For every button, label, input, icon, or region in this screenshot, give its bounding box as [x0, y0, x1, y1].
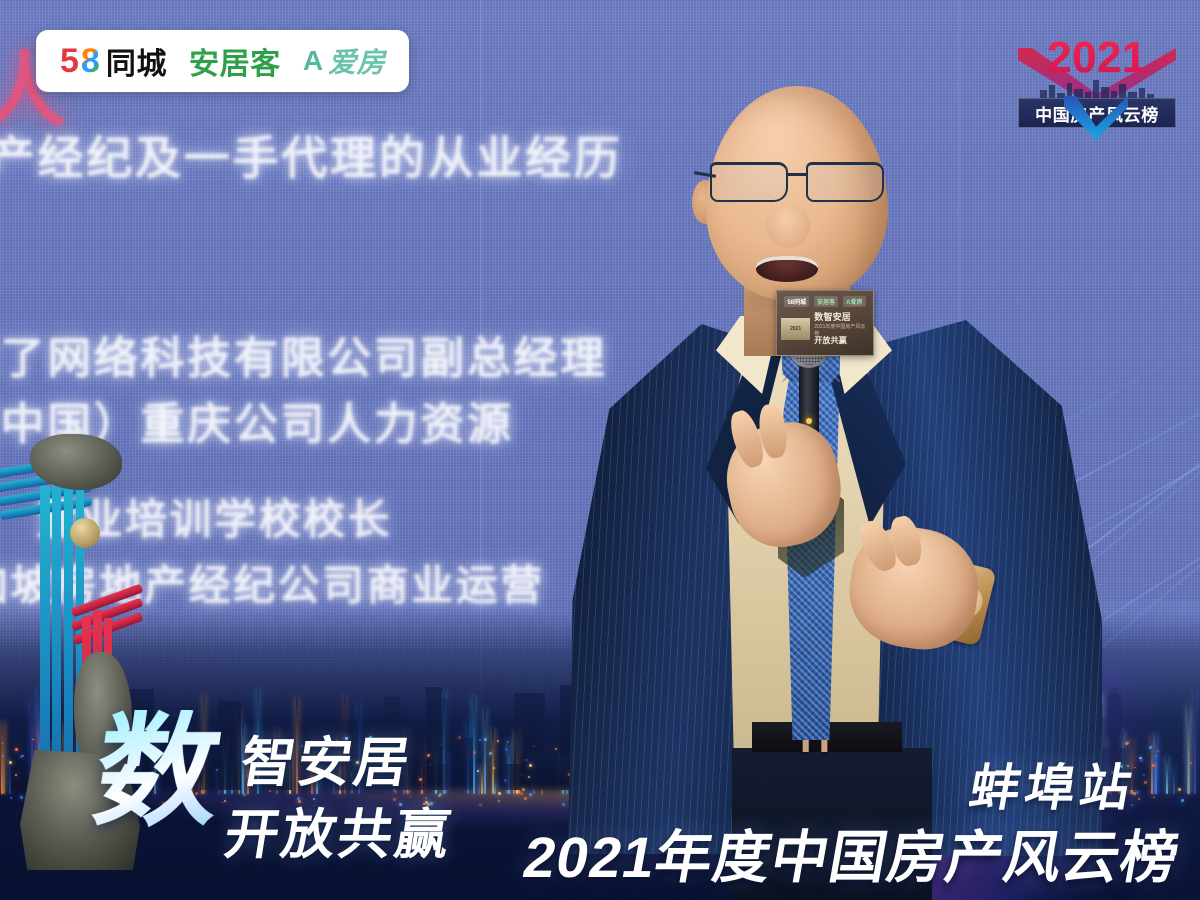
- event-main-title: 2021年度中国房产风云榜: [518, 812, 1187, 894]
- flag-slogan-2: 开放共赢: [814, 337, 869, 346]
- flag-chip-58: 58同城: [784, 296, 809, 307]
- logo-58-digit-8: 8: [81, 44, 100, 78]
- flag-subtitle: 2021年度中国房产风云榜: [814, 323, 869, 337]
- slogan-line-1: 智安居: [236, 718, 419, 797]
- conference-photo: 人 地产经纪及一手代理的从业经历 家了网络科技有限公司副总经理 （中国）重庆公司…: [0, 0, 1200, 900]
- speaker-person: H 58同城 安居客 A爱房: [520, 58, 1140, 848]
- logo-name-text: 中国房产风云榜: [1035, 101, 1159, 126]
- eyeglasses: [710, 162, 888, 206]
- slogan-line-2: 开放共赢: [220, 790, 459, 869]
- logo-58-text: 同城: [106, 39, 167, 83]
- flag-year-badge: 2021: [781, 318, 810, 340]
- gateway-orb: [70, 518, 100, 548]
- logo-58tongcheng: 5 8 同城: [60, 39, 167, 83]
- screen-text-line-2: 家了网络科技有限公司副总经理: [0, 322, 607, 386]
- logo-aifang: A 爱房: [303, 41, 385, 81]
- event-logo: 2021 中国房产风云榜: [1012, 22, 1182, 144]
- logo-anjuke: 安居客: [189, 39, 281, 83]
- logo-year-text: 2021: [1012, 36, 1182, 80]
- flag-slogan: 数智安居: [814, 313, 869, 323]
- flag-chip-anjuke: 安居客: [814, 296, 838, 307]
- microphone-flag-card: 58同城 安居客 A爱房 2021 数智安居 2021年度中国房产风云榜 开放共…: [776, 290, 874, 356]
- event-slogan-block: 数 智安居 开放共赢: [96, 716, 516, 876]
- aifang-a-icon: A: [303, 45, 323, 77]
- station-label: 蚌埠站: [965, 748, 1143, 820]
- logo-58-digit-5: 5: [60, 44, 79, 78]
- nose: [766, 204, 810, 248]
- aifang-label: 爱房: [328, 41, 385, 81]
- mouth: [756, 256, 818, 282]
- flag-chip-aifang: A爱房: [843, 296, 865, 307]
- slogan-big-character: 数: [87, 710, 228, 834]
- sponsor-logo-bar: 5 8 同城 安居客 A 爱房: [36, 30, 409, 92]
- logo-name-bar: 中国房产风云榜: [1018, 98, 1176, 128]
